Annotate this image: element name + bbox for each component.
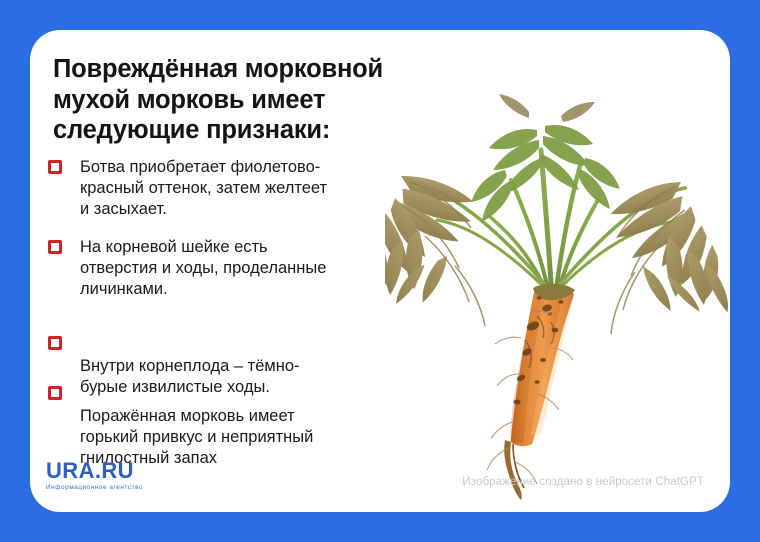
infographic-canvas: Повреждённая морковной мухой морковь име… — [0, 0, 760, 542]
red-square-bullet-icon — [48, 336, 62, 350]
content-card: Повреждённая морковной мухой морковь име… — [30, 30, 730, 512]
logo-subtitle: Информационное агентство — [46, 485, 143, 491]
red-square-bullet-icon — [48, 240, 62, 254]
red-square-bullet-icon — [48, 386, 62, 400]
image-attribution: Изображение создано в нейросети ChatGPT — [462, 476, 704, 488]
list-item-label: Внутри корнеплода – тёмно- бурые извилис… — [80, 356, 435, 398]
list-item-label: На корневой шейке есть отверстия и ходы,… — [80, 237, 435, 300]
red-square-bullet-icon — [48, 160, 62, 174]
list-item-label: Ботва приобретает фиолетово- красный отт… — [80, 157, 435, 220]
ura-ru-logo[interactable]: URA.RU Информационное агентство — [46, 460, 143, 491]
logo-wordmark: URA.RU — [46, 460, 143, 482]
page-title: Повреждённая морковной мухой морковь име… — [53, 54, 453, 146]
